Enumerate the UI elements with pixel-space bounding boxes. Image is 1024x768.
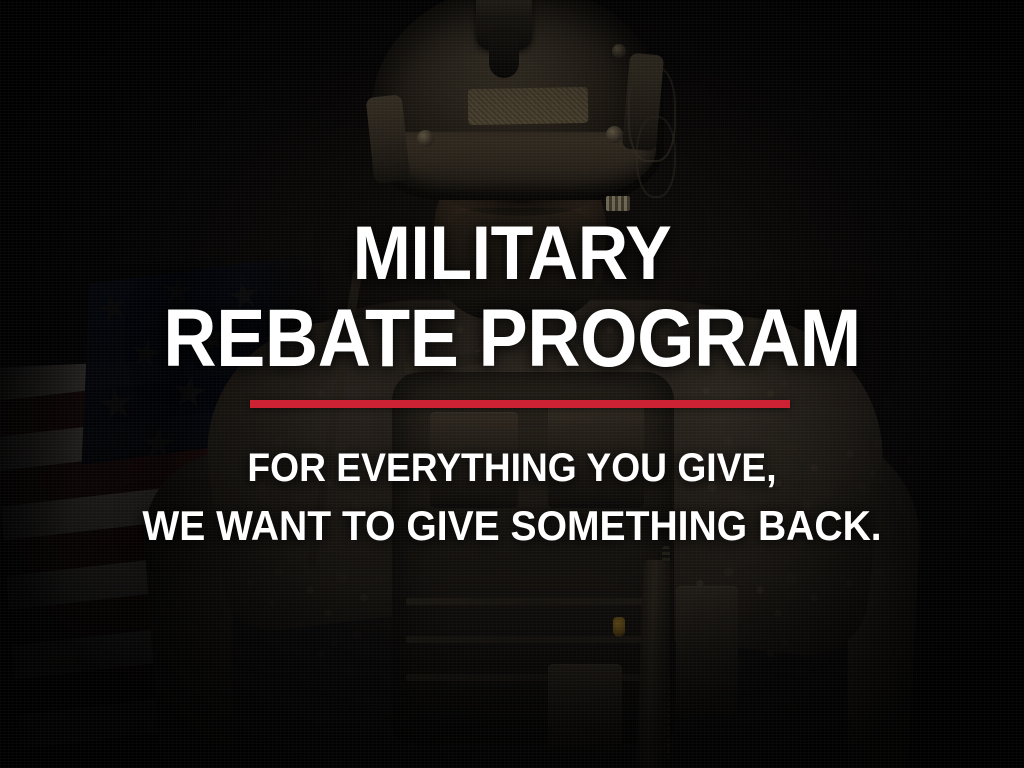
subheadline-line-2: WE WANT TO GIVE SOMETHING BACK. xyxy=(36,505,988,547)
red-divider-rule xyxy=(250,400,790,408)
text-overlay: MILITARY REBATE PROGRAM FOR EVERYTHING Y… xyxy=(0,0,1024,768)
headline-line-2: REBATE PROGRAM xyxy=(51,298,973,380)
subheadline-line-1: FOR EVERYTHING YOU GIVE, xyxy=(36,448,988,488)
military-rebate-poster: MILITARY REBATE PROGRAM FOR EVERYTHING Y… xyxy=(0,0,1024,768)
headline-line-1: MILITARY xyxy=(41,216,983,292)
